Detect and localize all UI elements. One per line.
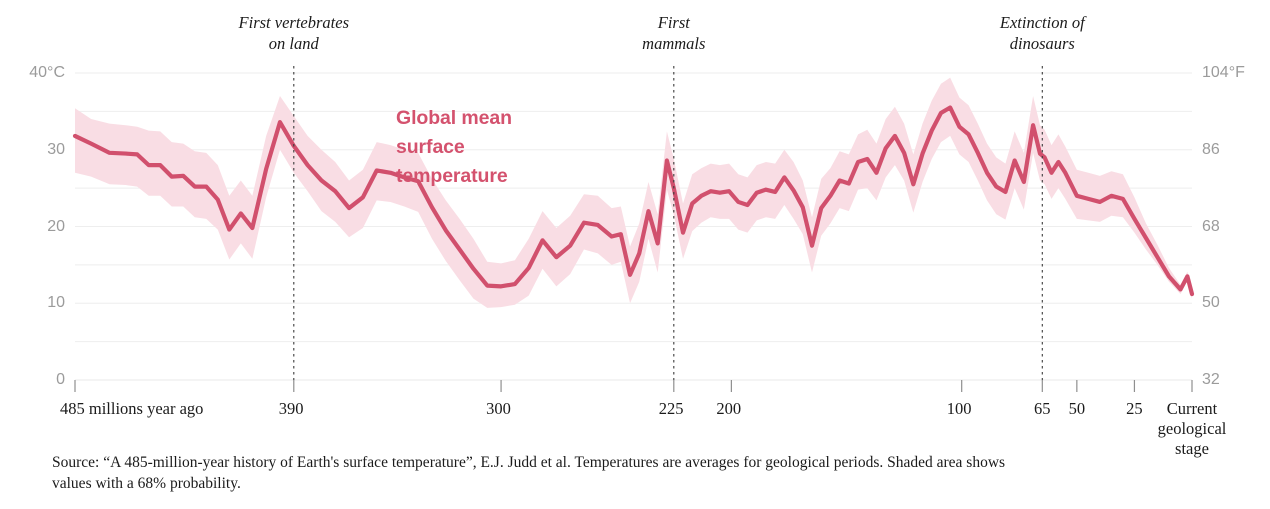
series-label: Global mean surface temperature [396,104,512,191]
uncertainty-band [75,78,1192,308]
y-left-tick-label: 0 [56,371,65,389]
x-tick-label: 225 [659,399,684,419]
x-tick-label: 100 [947,399,972,419]
x-tick-label: 485 millions year ago [60,399,203,419]
annotation-extinction-dinosaurs: Extinction of dinosaurs [932,12,1152,54]
x-axis-ticks [75,380,1192,392]
chart-plot-area: Global mean surface temperature First ve… [0,0,1270,445]
x-tick-label: 390 [279,399,304,419]
y-left-tick-label: 10 [47,294,65,312]
y-left-tick-label: 40°C [29,64,65,82]
x-tick-label: 300 [486,399,511,419]
temperature-chart-svg [0,0,1270,445]
x-tick-label: 200 [716,399,741,419]
y-right-tick-label: 104°F [1202,64,1245,82]
y-right-tick-label: 32 [1202,371,1220,389]
source-note: Source: “A 485-million-year history of E… [52,452,1012,494]
y-left-tick-label: 20 [47,218,65,236]
annotation-first-vertebrates: First vertebrates on land [184,12,404,54]
x-tick-label: Current geological stage [1132,399,1252,459]
y-right-tick-label: 50 [1202,294,1220,312]
y-right-tick-label: 68 [1202,218,1220,236]
series-label-line3: temperature [396,162,512,191]
chart-root: Global mean surface temperature First ve… [0,0,1270,509]
y-left-tick-label: 30 [47,141,65,159]
annotation-first-mammals: First mammals [564,12,784,54]
series-label-line1: Global mean [396,104,512,133]
series-label-line2: surface [396,133,512,162]
uncertainty-band-path [75,78,1192,308]
y-right-tick-label: 86 [1202,141,1220,159]
